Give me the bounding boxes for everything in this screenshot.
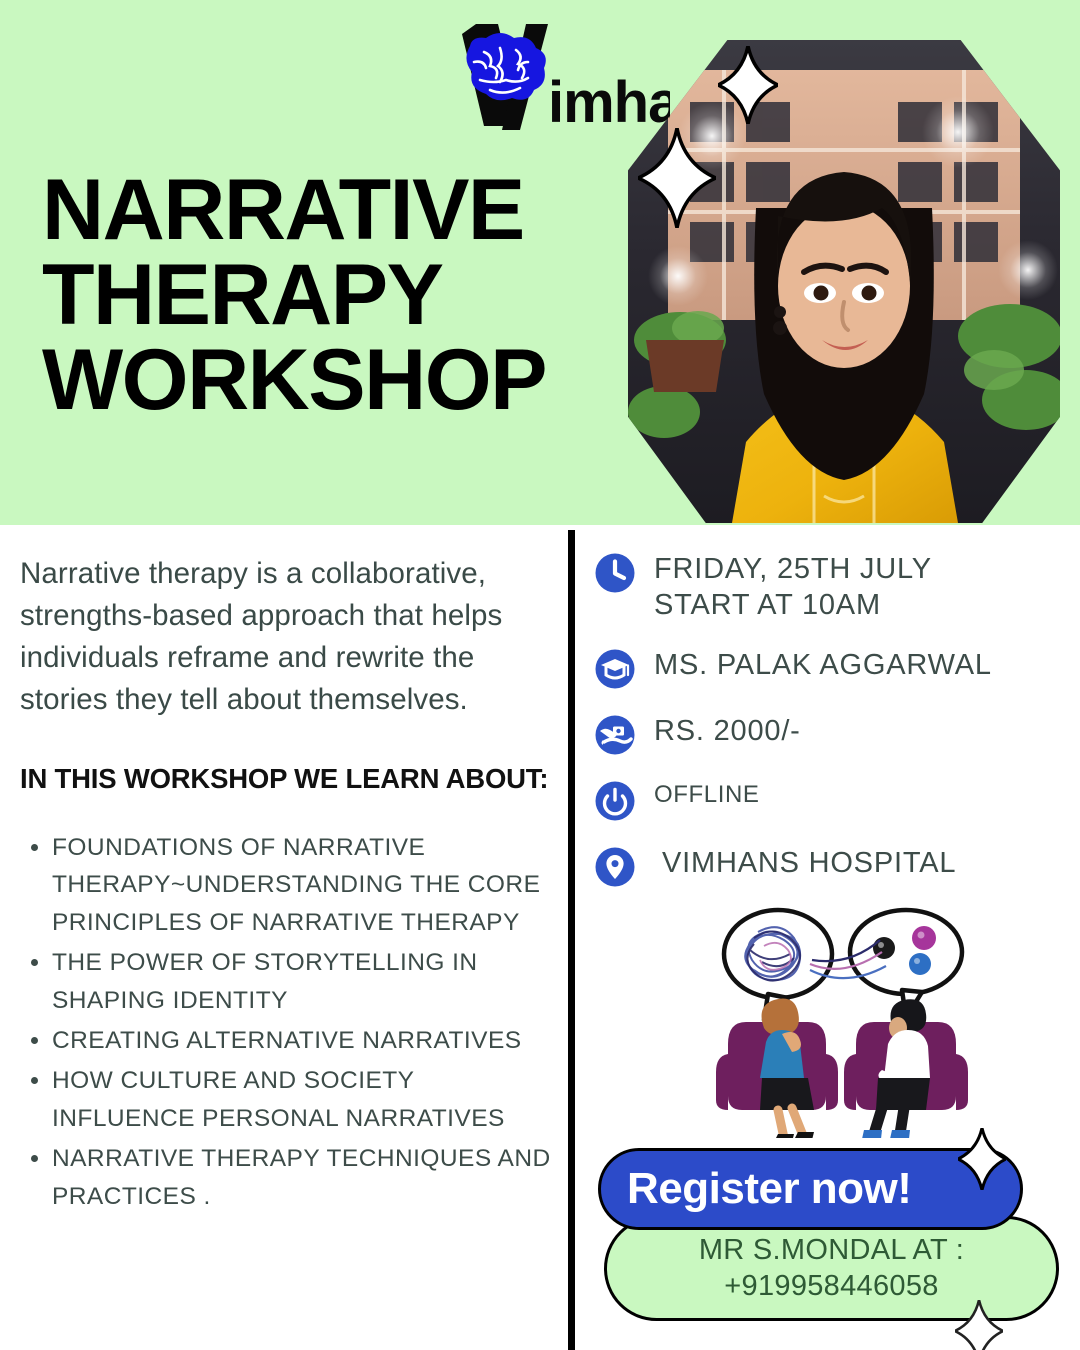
register-button-label: Register now! bbox=[627, 1164, 911, 1214]
list-item: THE POWER OF STORYTELLING IN SHAPING IDE… bbox=[52, 944, 560, 1020]
detail-date-line2: START AT 10AM bbox=[654, 588, 932, 624]
detail-text-mode: OFFLINE bbox=[654, 778, 760, 810]
event-details: FRIDAY, 25TH JULY START AT 10AM MS. PALA… bbox=[594, 550, 1064, 910]
contact-name: MR S.MONDAL AT : bbox=[699, 1233, 964, 1269]
intro-paragraph: Narrative therapy is a collaborative, st… bbox=[20, 553, 560, 721]
topics-list: FOUNDATIONS OF NARRATIVE THERAPY~UNDERST… bbox=[20, 829, 560, 1217]
power-icon bbox=[594, 780, 636, 822]
detail-row-venue: VIMHANS HOSPITAL bbox=[594, 844, 1064, 888]
list-item: CREATING ALTERNATIVE NARRATIVES bbox=[52, 1022, 560, 1060]
graduation-cap-icon bbox=[594, 648, 636, 690]
detail-text-venue: VIMHANS HOSPITAL bbox=[654, 844, 956, 882]
sparkle-icon-left bbox=[638, 128, 716, 228]
detail-text-date: FRIDAY, 25TH JULY START AT 10AM bbox=[654, 550, 932, 624]
vimhans-logo: imhans bbox=[440, 18, 670, 138]
poster-canvas: imhans NARRATIVE THERAPY WORKSHOP Narrat… bbox=[0, 0, 1080, 1350]
left-column: Narrative therapy is a collaborative, st… bbox=[20, 553, 560, 1218]
detail-text-fee: RS. 2000/- bbox=[654, 712, 801, 750]
sparkle-icon-cta-top bbox=[958, 1128, 1006, 1190]
sparkle-icon-top bbox=[718, 46, 778, 124]
page-title: NARRATIVE THERAPY WORKSHOP bbox=[42, 168, 662, 423]
detail-row-speaker: MS. PALAK AGGARWAL bbox=[594, 646, 1064, 690]
logo-wordmark: imhans bbox=[548, 70, 670, 135]
title-line-3: WORKSHOP bbox=[42, 338, 662, 423]
detail-row-fee: RS. 2000/- bbox=[594, 712, 1064, 756]
column-divider bbox=[568, 530, 575, 1350]
list-item: FOUNDATIONS OF NARRATIVE THERAPY~UNDERST… bbox=[52, 829, 560, 943]
title-line-1: NARRATIVE bbox=[42, 168, 662, 253]
detail-date-line1: FRIDAY, 25TH JULY bbox=[654, 552, 932, 588]
detail-row-date: FRIDAY, 25TH JULY START AT 10AM bbox=[594, 550, 1064, 624]
detail-row-mode: OFFLINE bbox=[594, 778, 1064, 822]
title-line-2: THERAPY bbox=[42, 253, 662, 338]
location-pin-icon bbox=[594, 846, 636, 888]
learn-about-heading: IN THIS WORKSHOP WE LEARN ABOUT: bbox=[20, 763, 560, 795]
contact-phone: +919958446058 bbox=[724, 1269, 938, 1305]
speaker-photo-hexagon bbox=[628, 40, 1060, 523]
therapy-session-illustration bbox=[706, 902, 978, 1138]
sparkle-icon-cta-bottom bbox=[955, 1300, 1003, 1350]
clock-icon bbox=[594, 552, 636, 594]
detail-text-speaker: MS. PALAK AGGARWAL bbox=[654, 646, 992, 684]
list-item: NARRATIVE THERAPY TECHNIQUES AND PRACTIC… bbox=[52, 1140, 560, 1216]
payment-icon bbox=[594, 714, 636, 756]
speaker-portrait-image bbox=[628, 40, 1060, 523]
list-item: HOW CULTURE AND SOCIETY INFLUENCE PERSON… bbox=[52, 1062, 560, 1138]
